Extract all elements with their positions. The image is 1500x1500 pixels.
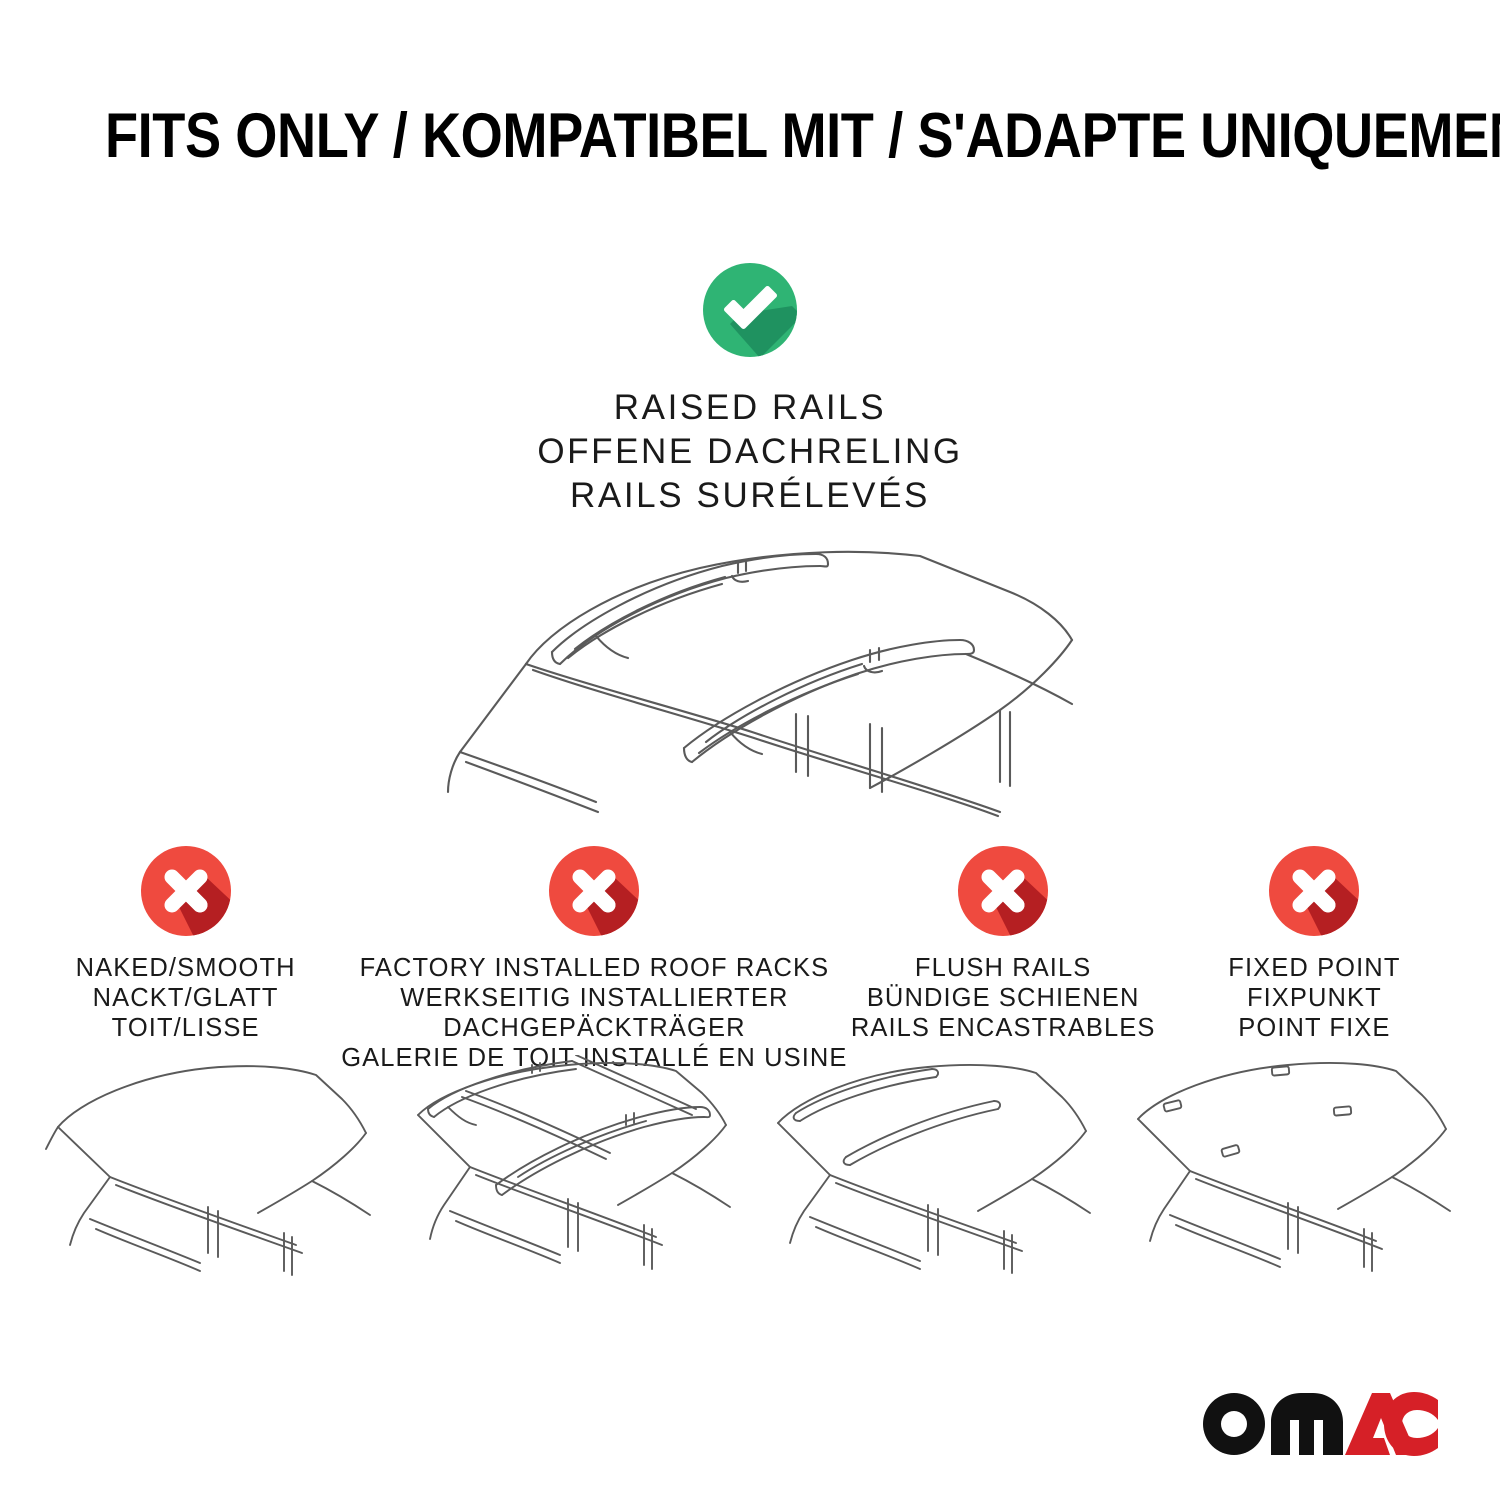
- compatible-label-line-en: RAISED RAILS: [0, 386, 1500, 430]
- label-line-de: NACKT/GLATT: [76, 983, 296, 1013]
- incompatible-item-factory-rack: FACTORY INSTALLED ROOF RACKS WERKSEITIG …: [341, 845, 847, 1073]
- incompatible-label: FIXED POINT FIXPUNKT POINT FIXE: [1228, 953, 1400, 1043]
- cross-circle-icon: [1268, 845, 1360, 937]
- cross-circle-icon: [548, 845, 640, 937]
- label-line-fr: POINT FIXE: [1228, 1013, 1400, 1043]
- car-roof-fixed-point-drawing: [1110, 1055, 1470, 1290]
- page-title: FITS ONLY / KOMPATIBEL MIT / S'ADAPTE UN…: [105, 100, 1395, 172]
- car-roof-flush-rails-drawing: [750, 1055, 1110, 1290]
- incompatible-item-flush-rails: FLUSH RAILS BÜNDIGE SCHIENEN RAILS ENCAS…: [848, 845, 1159, 1043]
- car-roof-naked-smooth-drawing: [30, 1055, 390, 1290]
- cross-circle-icon: [957, 845, 1049, 937]
- compatible-section: RAISED RAILS OFFENE DACHRELING RAILS SUR…: [0, 262, 1500, 836]
- incompatible-item-naked-smooth: NAKED/SMOOTH NACKT/GLATT TOIT/LISSE: [30, 845, 341, 1043]
- label-line-en: FIXED POINT: [1228, 953, 1400, 983]
- label-line-de: FIXPUNKT: [1228, 983, 1400, 1013]
- car-roof-raised-rails-drawing: [400, 536, 1100, 836]
- incompatible-row: NAKED/SMOOTH NACKT/GLATT TOIT/LISSE: [30, 845, 1470, 1073]
- label-line-de: BÜNDIGE SCHIENEN: [851, 983, 1156, 1013]
- compatible-label: RAISED RAILS OFFENE DACHRELING RAILS SUR…: [0, 386, 1500, 518]
- incompatible-illustration-row: [30, 1055, 1470, 1290]
- label-line-en: NAKED/SMOOTH: [76, 953, 296, 983]
- label-line-en: FLUSH RAILS: [851, 953, 1156, 983]
- label-line-fr: TOIT/LISSE: [76, 1013, 296, 1043]
- omac-logo: [1198, 1380, 1438, 1462]
- label-line-de-2: DACHGEPÄCKTRÄGER: [341, 1013, 847, 1043]
- compatible-label-line-de: OFFENE DACHRELING: [0, 430, 1500, 474]
- car-roof-factory-rack-drawing: [390, 1055, 750, 1290]
- label-line-en: FACTORY INSTALLED ROOF RACKS: [341, 953, 847, 983]
- incompatible-label: FLUSH RAILS BÜNDIGE SCHIENEN RAILS ENCAS…: [851, 953, 1156, 1043]
- incompatible-item-fixed-point: FIXED POINT FIXPUNKT POINT FIXE: [1159, 845, 1470, 1043]
- label-line-de-1: WERKSEITIG INSTALLIERTER: [341, 983, 847, 1013]
- compatible-label-line-fr: RAILS SURÉLEVÉS: [0, 474, 1500, 518]
- cross-circle-icon: [140, 845, 232, 937]
- fitment-guide-page: FITS ONLY / KOMPATIBEL MIT / S'ADAPTE UN…: [0, 0, 1500, 1500]
- label-line-fr: RAILS ENCASTRABLES: [851, 1013, 1156, 1043]
- check-circle-icon: [702, 262, 798, 358]
- incompatible-label: NAKED/SMOOTH NACKT/GLATT TOIT/LISSE: [76, 953, 296, 1043]
